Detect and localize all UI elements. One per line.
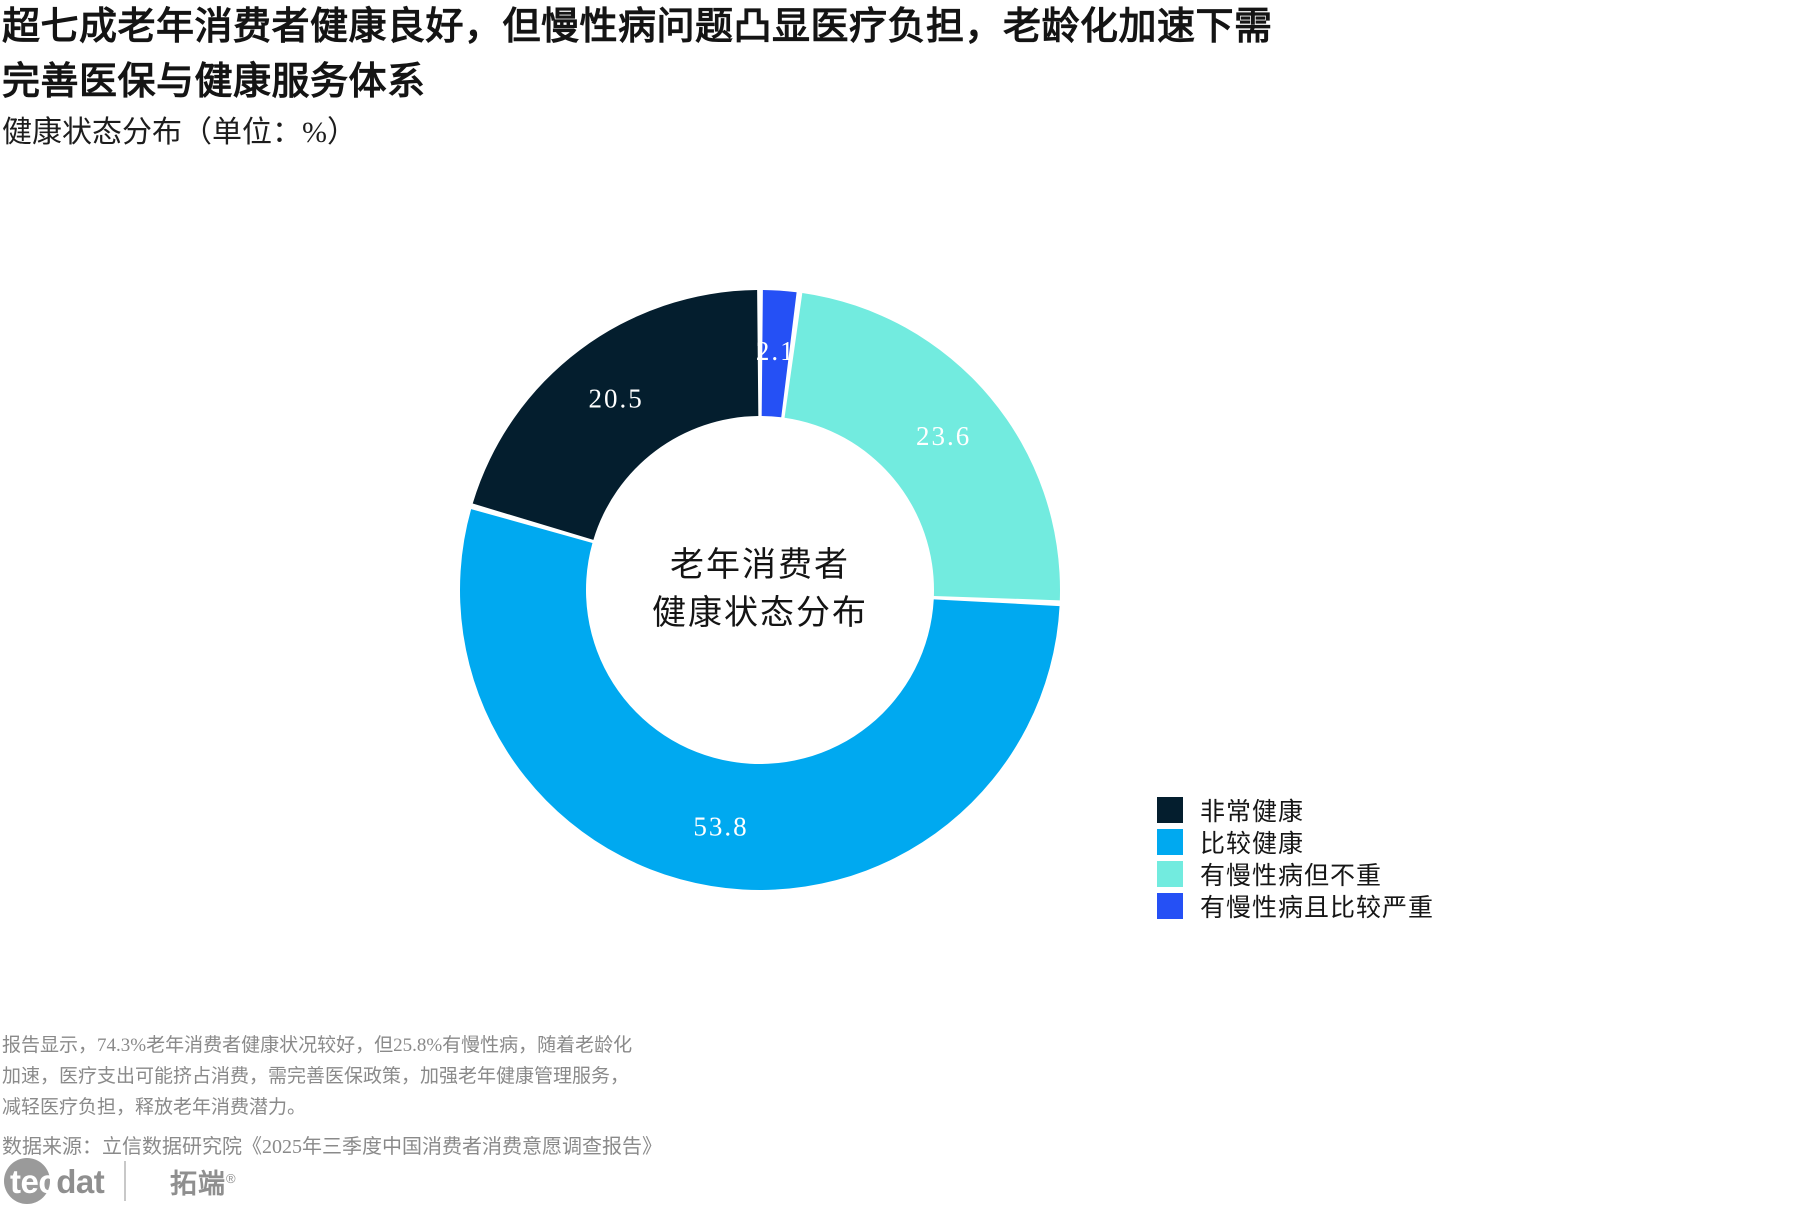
donut-data-label: 53.8 bbox=[693, 811, 748, 841]
donut-data-label: 20.5 bbox=[589, 383, 644, 413]
legend-item-label: 非常健康 bbox=[1200, 792, 1304, 828]
donut-slice-group bbox=[460, 290, 1060, 890]
chart-legend: 非常健康比较健康有慢性病但不重有慢性病且比较严重 bbox=[1157, 796, 1434, 920]
page-title-line-1: 超七成老年消费者健康良好，但慢性病问题凸显医疗负担，老龄化加速下需 bbox=[0, 0, 1814, 55]
legend-item[interactable]: 非常健康 bbox=[1157, 796, 1434, 824]
donut-chart-graphic: 2.123.653.820.5 bbox=[440, 270, 1080, 910]
legend-item[interactable]: 比较健康 bbox=[1157, 828, 1434, 856]
legend-swatch-icon bbox=[1157, 829, 1183, 855]
chart-header: 超七成老年消费者健康良好，但慢性病问题凸显医疗负担，老龄化加速下需 完善医保与健… bbox=[0, 0, 1814, 156]
legend-item[interactable]: 有慢性病但不重 bbox=[1157, 860, 1434, 888]
logo-word-part-2: dat bbox=[56, 1163, 104, 1200]
logo-mark: tecdat bbox=[4, 1158, 156, 1204]
footnote-line-1: 报告显示，74.3%老年消费者健康状况较好，但25.8%有慢性病，随着老龄化 bbox=[2, 1030, 1002, 1061]
registered-mark-icon: ® bbox=[226, 1171, 237, 1186]
legend-item-label: 有慢性病但不重 bbox=[1200, 856, 1382, 892]
footnote-line-3: 减轻医疗负担，释放老年消费潜力。 bbox=[2, 1092, 1002, 1123]
legend-swatch-icon bbox=[1157, 797, 1183, 823]
donut-slice[interactable] bbox=[473, 290, 759, 540]
donut-data-label: 2.1 bbox=[756, 336, 796, 366]
legend-swatch-icon bbox=[1157, 861, 1183, 887]
logo-word-part-1: tec bbox=[10, 1163, 56, 1200]
logo-wordmark: tecdat bbox=[10, 1164, 104, 1199]
donut-svg: 2.123.653.820.5 bbox=[440, 270, 1080, 910]
logo-cn-text: 拓端 bbox=[170, 1169, 226, 1199]
legend-item-label: 比较健康 bbox=[1200, 824, 1304, 860]
legend-swatch-icon bbox=[1157, 893, 1183, 919]
donut-data-label: 23.6 bbox=[916, 421, 971, 451]
page-title-line-2: 完善医保与健康服务体系 bbox=[0, 55, 1814, 110]
legend-item-label: 有慢性病且比较严重 bbox=[1200, 888, 1434, 924]
footnote-line-2: 加速，医疗支出可能挤占消费，需完善医保政策，加强老年健康管理服务， bbox=[2, 1061, 1002, 1092]
tecdat-logo: tecdat 拓端® bbox=[4, 1158, 237, 1204]
logo-chinese-name: 拓端® bbox=[170, 1162, 237, 1201]
chart-footnote: 报告显示，74.3%老年消费者健康状况较好，但25.8%有慢性病，随着老龄化 加… bbox=[2, 1030, 1002, 1163]
legend-item[interactable]: 有慢性病且比较严重 bbox=[1157, 892, 1434, 920]
page-subtitle: 健康状态分布（单位：%） bbox=[0, 110, 1814, 156]
donut-chart: 2.123.653.820.5 老年消费者 健康状态分布 非常健康比较健康有慢性… bbox=[0, 250, 1814, 990]
logo-divider bbox=[124, 1161, 126, 1201]
